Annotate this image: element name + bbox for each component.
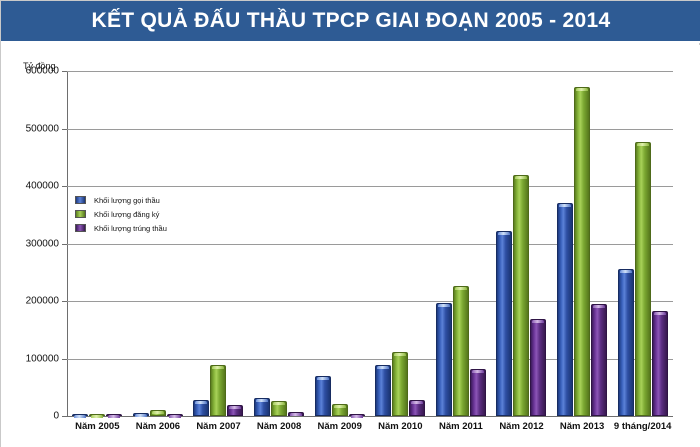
bar[interactable] xyxy=(574,87,590,416)
bar-cluster xyxy=(67,71,128,416)
chart-legend: Khối lượng gọi thầu Khối lượng đăng ký K… xyxy=(75,193,167,235)
bar[interactable] xyxy=(210,365,226,416)
bar[interactable] xyxy=(375,365,391,416)
y-axis-tick-label: 500000 xyxy=(26,123,59,134)
bar[interactable] xyxy=(227,405,243,416)
legend-swatch-icon xyxy=(75,224,86,232)
bar[interactable] xyxy=(271,401,287,416)
x-axis-category-label: Năm 2013 xyxy=(560,421,604,432)
page-title: KẾT QUẢ ĐẤU THẦU TPCP GIAI ĐOẠN 2005 - 2… xyxy=(92,9,611,33)
bar[interactable] xyxy=(106,414,122,416)
bar-cluster xyxy=(491,71,552,416)
bar-cluster xyxy=(188,71,249,416)
x-axis-category-label: 9 tháng/2014 xyxy=(614,421,672,432)
y-axis-tick-label: 100000 xyxy=(26,353,59,364)
bar[interactable] xyxy=(557,203,573,416)
bar[interactable] xyxy=(496,231,512,416)
x-axis-category-label: Năm 2012 xyxy=(499,421,543,432)
bar[interactable] xyxy=(89,414,105,416)
y-axis-tick-label: 200000 xyxy=(26,296,59,307)
x-axis-category-label: Năm 2008 xyxy=(257,421,301,432)
bar[interactable] xyxy=(133,413,149,416)
bar[interactable] xyxy=(513,175,529,417)
bar[interactable] xyxy=(167,414,183,416)
bar[interactable] xyxy=(635,142,651,416)
bar-cluster xyxy=(552,71,613,416)
y-axis-tick xyxy=(62,416,67,417)
legend-swatch-icon xyxy=(75,210,86,218)
y-axis-tick-label: 300000 xyxy=(26,238,59,249)
x-axis-category-label: Năm 2005 xyxy=(75,421,119,432)
x-axis-category-label: Năm 2009 xyxy=(318,421,362,432)
gridline xyxy=(67,416,673,417)
bar[interactable] xyxy=(409,400,425,416)
legend-item-0: Khối lượng gọi thầu xyxy=(75,193,167,207)
legend-swatch-icon xyxy=(75,196,86,204)
bar[interactable] xyxy=(349,414,365,416)
bar-cluster xyxy=(612,71,673,416)
bar[interactable] xyxy=(392,352,408,416)
chart-page: KẾT QUẢ ĐẤU THẦU TPCP GIAI ĐOẠN 2005 - 2… xyxy=(0,0,700,447)
x-axis-category-label: Năm 2011 xyxy=(439,421,483,432)
bar[interactable] xyxy=(332,404,348,416)
legend-item-label: Khối lượng trúng thầu xyxy=(94,224,167,233)
x-axis-category-label: Năm 2010 xyxy=(378,421,422,432)
bar[interactable] xyxy=(591,304,607,416)
bar-cluster xyxy=(128,71,189,416)
legend-item-label: Khối lượng đăng ký xyxy=(94,210,159,219)
plot-area: Tỷ đồng 01000002000003000004000005000006… xyxy=(1,45,700,447)
bar[interactable] xyxy=(315,376,331,416)
bar[interactable] xyxy=(453,286,469,416)
legend-item-label: Khối lượng gọi thầu xyxy=(94,196,160,205)
bar[interactable] xyxy=(618,269,634,416)
y-axis-tick-label: 400000 xyxy=(26,181,59,192)
bar-cluster xyxy=(431,71,492,416)
bar[interactable] xyxy=(470,369,486,416)
bar[interactable] xyxy=(193,400,209,416)
bar[interactable] xyxy=(72,414,88,416)
bar[interactable] xyxy=(288,412,304,416)
bar[interactable] xyxy=(530,319,546,416)
bar[interactable] xyxy=(150,410,166,416)
bar-cluster xyxy=(249,71,310,416)
legend-item-1: Khối lượng đăng ký xyxy=(75,207,167,221)
chart-title-bar: KẾT QUẢ ĐẤU THẦU TPCP GIAI ĐOẠN 2005 - 2… xyxy=(1,1,700,43)
bar[interactable] xyxy=(254,398,270,416)
x-axis-category-label: Năm 2007 xyxy=(196,421,240,432)
y-axis-tick-label: 0 xyxy=(53,411,59,422)
chart-axes: 0100000200000300000400000500000600000 xyxy=(67,71,673,416)
y-axis-tick-label: 600000 xyxy=(26,66,59,77)
bar-cluster xyxy=(309,71,370,416)
x-axis-category-label: Năm 2006 xyxy=(136,421,180,432)
bar[interactable] xyxy=(436,303,452,416)
bar[interactable] xyxy=(652,311,668,416)
legend-item-2: Khối lượng trúng thầu xyxy=(75,221,167,235)
bar-cluster xyxy=(370,71,431,416)
